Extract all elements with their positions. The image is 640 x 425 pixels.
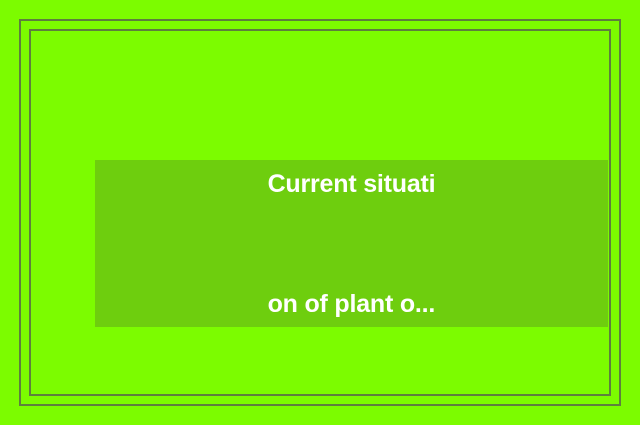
content-panel: Current situati on of plant o... bbox=[95, 160, 608, 327]
slide-canvas: Current situati on of plant o... bbox=[0, 0, 640, 425]
inner-frame: Current situati on of plant o... bbox=[29, 29, 611, 396]
slide-title: Current situati on of plant o... bbox=[268, 84, 436, 404]
slide-title-line-1: Current situati bbox=[268, 164, 436, 204]
slide-title-line-2: on of plant o... bbox=[268, 284, 436, 324]
